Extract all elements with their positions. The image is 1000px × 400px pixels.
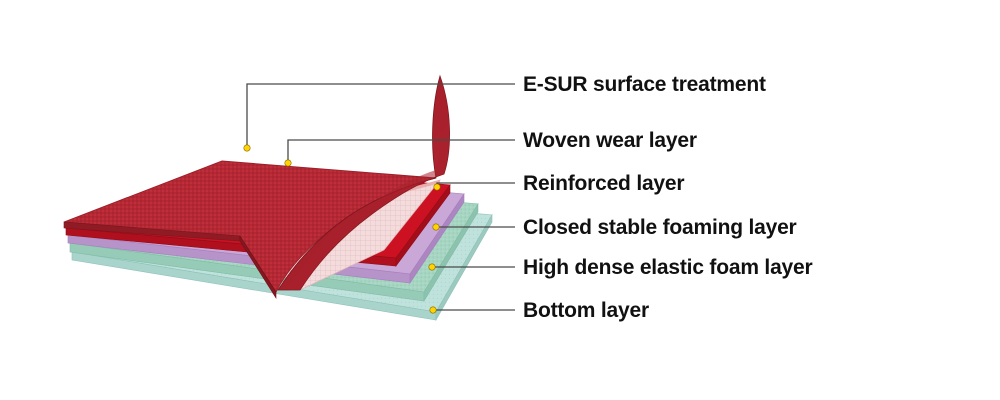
label-reinforced: Reinforced layer [523,172,684,195]
layer-diagram: E-SUR surface treatment Woven wear layer… [0,0,1000,400]
callout-reinforced: Reinforced layer [434,172,685,195]
label-woven-wear: Woven wear layer [523,129,697,152]
marker-dot-high-dense-elastic-foam [429,264,435,270]
label-closed-stable-foaming: Closed stable foaming layer [523,216,797,239]
callout-high-dense-elastic-foam: High dense elastic foam layer [429,256,813,279]
marker-dot-surface-treatment [244,145,250,151]
callout-woven-wear: Woven wear layer [285,129,697,166]
marker-dot-closed-stable-foaming [433,224,439,230]
diagram-canvas: E-SUR surface treatment Woven wear layer… [0,0,1000,400]
label-high-dense-elastic-foam: High dense elastic foam layer [523,256,813,279]
callout-bottom: Bottom layer [430,299,649,322]
leader-line-surface-treatment [247,84,515,148]
leader-line-woven-wear [288,140,515,163]
label-bottom: Bottom layer [523,299,649,322]
marker-dot-woven-wear [285,160,291,166]
marker-dot-bottom [430,307,436,313]
label-surface-treatment: E-SUR surface treatment [523,73,766,96]
marker-dot-reinforced [434,184,440,190]
